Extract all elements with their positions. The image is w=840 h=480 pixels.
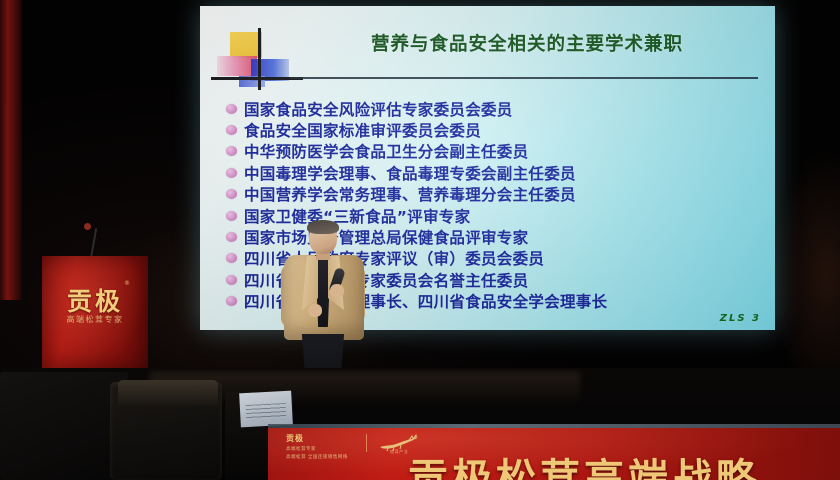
slide-page-marker: ZLS 3 [720, 313, 761, 324]
banner-headline: 贡极松茸高端战略 [408, 446, 760, 480]
deer-logo-caption: 松茸产业 [390, 449, 408, 455]
list-item: 中国毒理学会理事、食品毒理专委会副主任委员 [226, 162, 774, 183]
slide-title: 营养与食品安全相关的主要学术兼职 [292, 30, 762, 56]
bullet-dot-icon [226, 168, 237, 178]
bullet-dot-icon [226, 275, 237, 285]
banner-divider [366, 434, 367, 452]
front-stage-banner: 贡极 高端松茸专家 高端松茸 全国连锁销售网络 松茸产业 贡极松茸高端战略 [268, 428, 840, 480]
speaker-left-hand [308, 304, 322, 317]
list-item-label: 国家食品安全风险评估专家委员会委员 [244, 98, 513, 120]
list-item-label: 中华预防医学会食品卫生分会副主任委员 [244, 140, 528, 162]
bullet-dot-icon [226, 211, 237, 221]
list-item-label: 食品安全国家标准审评委员会委员 [244, 119, 481, 141]
bullet-dot-icon [226, 146, 237, 156]
banner-brand-subline: 高端松茸 全国连锁销售网络 [286, 454, 358, 460]
podium: 贡极 ® 高端松茸专家 [42, 256, 148, 368]
bullet-dot-icon [226, 125, 237, 135]
stage-equipment-left [0, 372, 128, 480]
speaker-right-hand [330, 284, 344, 298]
podium-tagline-label: 高端松茸专家 [42, 314, 148, 325]
list-item: 国家食品安全风险评估专家委员会委员 [226, 98, 774, 119]
banner-brand-tagline: 高端松茸专家 [286, 446, 358, 452]
list-item: 中国营养学会常务理事、营养毒理分会主任委员 [226, 184, 774, 205]
speaker-hair [307, 220, 339, 234]
bullet-dot-icon [226, 189, 237, 199]
bullet-dot-icon [226, 253, 237, 263]
stage-curtain-left [0, 0, 22, 300]
microphone-head-icon [84, 223, 91, 230]
bullet-dot-icon [226, 104, 237, 114]
list-item: 中华预防医学会食品卫生分会副主任委员 [226, 141, 774, 162]
decor-bar-vertical [258, 28, 261, 90]
podium-brand-label: 贡极 [42, 282, 148, 318]
banner-brand-block: 贡极 高端松茸专家 高端松茸 全国连锁销售网络 [286, 433, 358, 460]
slide-decor-motif [217, 32, 289, 90]
bullet-dot-icon [226, 296, 237, 306]
backdrop-light-glow [770, 150, 840, 400]
banner-brand-label: 贡极 [286, 433, 358, 444]
podium-trademark-mark: ® [124, 280, 130, 287]
paper-sheet-text-lines [246, 403, 287, 421]
list-item-label: 中国毒理学会理事、食品毒理专委会副主任委员 [244, 162, 576, 184]
bullet-dot-icon [226, 232, 237, 242]
stage-scene: 营养与食品安全相关的主要学术兼职 国家食品安全风险评估专家委员会委员 食品安全国… [0, 0, 840, 480]
slide-title-rule [290, 77, 758, 79]
list-item-label: 中国营养学会常务理事、营养毒理分会主任委员 [244, 183, 576, 205]
stage-equipment-center-top [118, 380, 218, 406]
list-item: 食品安全国家标准审评委员会委员 [226, 119, 774, 140]
